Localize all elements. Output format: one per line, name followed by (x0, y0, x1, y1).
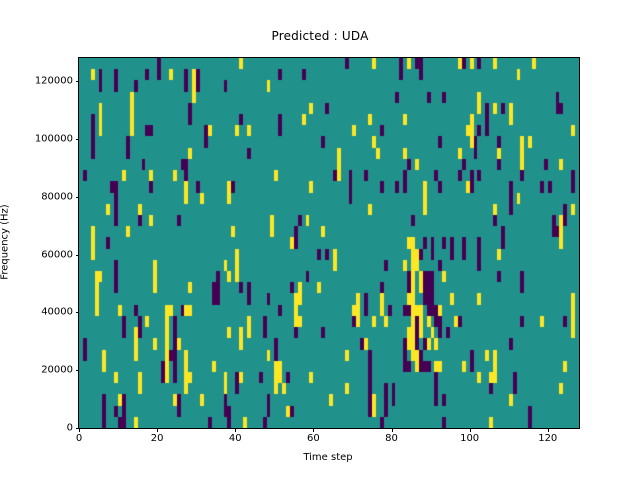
heatmap-axes: 020000400006000080000100000120000 020406… (78, 57, 580, 429)
y-axis-label: Frequency (Hz) (0, 204, 11, 279)
matplotlib-figure: Predicted : UDA 020000400006000080000100… (0, 0, 640, 480)
x-tick-label: 80 (385, 433, 398, 444)
x-tick-label: 100 (460, 433, 479, 444)
y-tick-label: 0 (67, 423, 73, 434)
x-tick-mark (157, 428, 158, 432)
x-tick-mark (235, 428, 236, 432)
x-tick-mark (548, 428, 549, 432)
y-tick-label: 20000 (41, 365, 73, 376)
y-tick-mark (76, 197, 80, 198)
x-tick-mark (392, 428, 393, 432)
y-tick-mark (76, 255, 80, 256)
y-tick-mark (76, 139, 80, 140)
x-tick-label: 40 (229, 433, 242, 444)
x-tick-mark (313, 428, 314, 432)
y-tick-label: 120000 (35, 76, 73, 87)
y-tick-label: 100000 (35, 133, 73, 144)
x-tick-label: 60 (307, 433, 320, 444)
x-tick-label: 20 (151, 433, 164, 444)
y-tick-mark (76, 370, 80, 371)
y-tick-mark (76, 312, 80, 313)
x-axis-label: Time step (78, 452, 578, 463)
y-tick-label: 40000 (41, 307, 73, 318)
y-tick-mark (76, 81, 80, 82)
heatmap-canvas (79, 58, 579, 428)
x-tick-mark (470, 428, 471, 432)
y-tick-label: 80000 (41, 191, 73, 202)
x-tick-label: 0 (76, 433, 82, 444)
x-tick-mark (79, 428, 80, 432)
x-tick-label: 120 (538, 433, 557, 444)
chart-title: Predicted : UDA (0, 29, 640, 43)
y-tick-label: 60000 (41, 249, 73, 260)
